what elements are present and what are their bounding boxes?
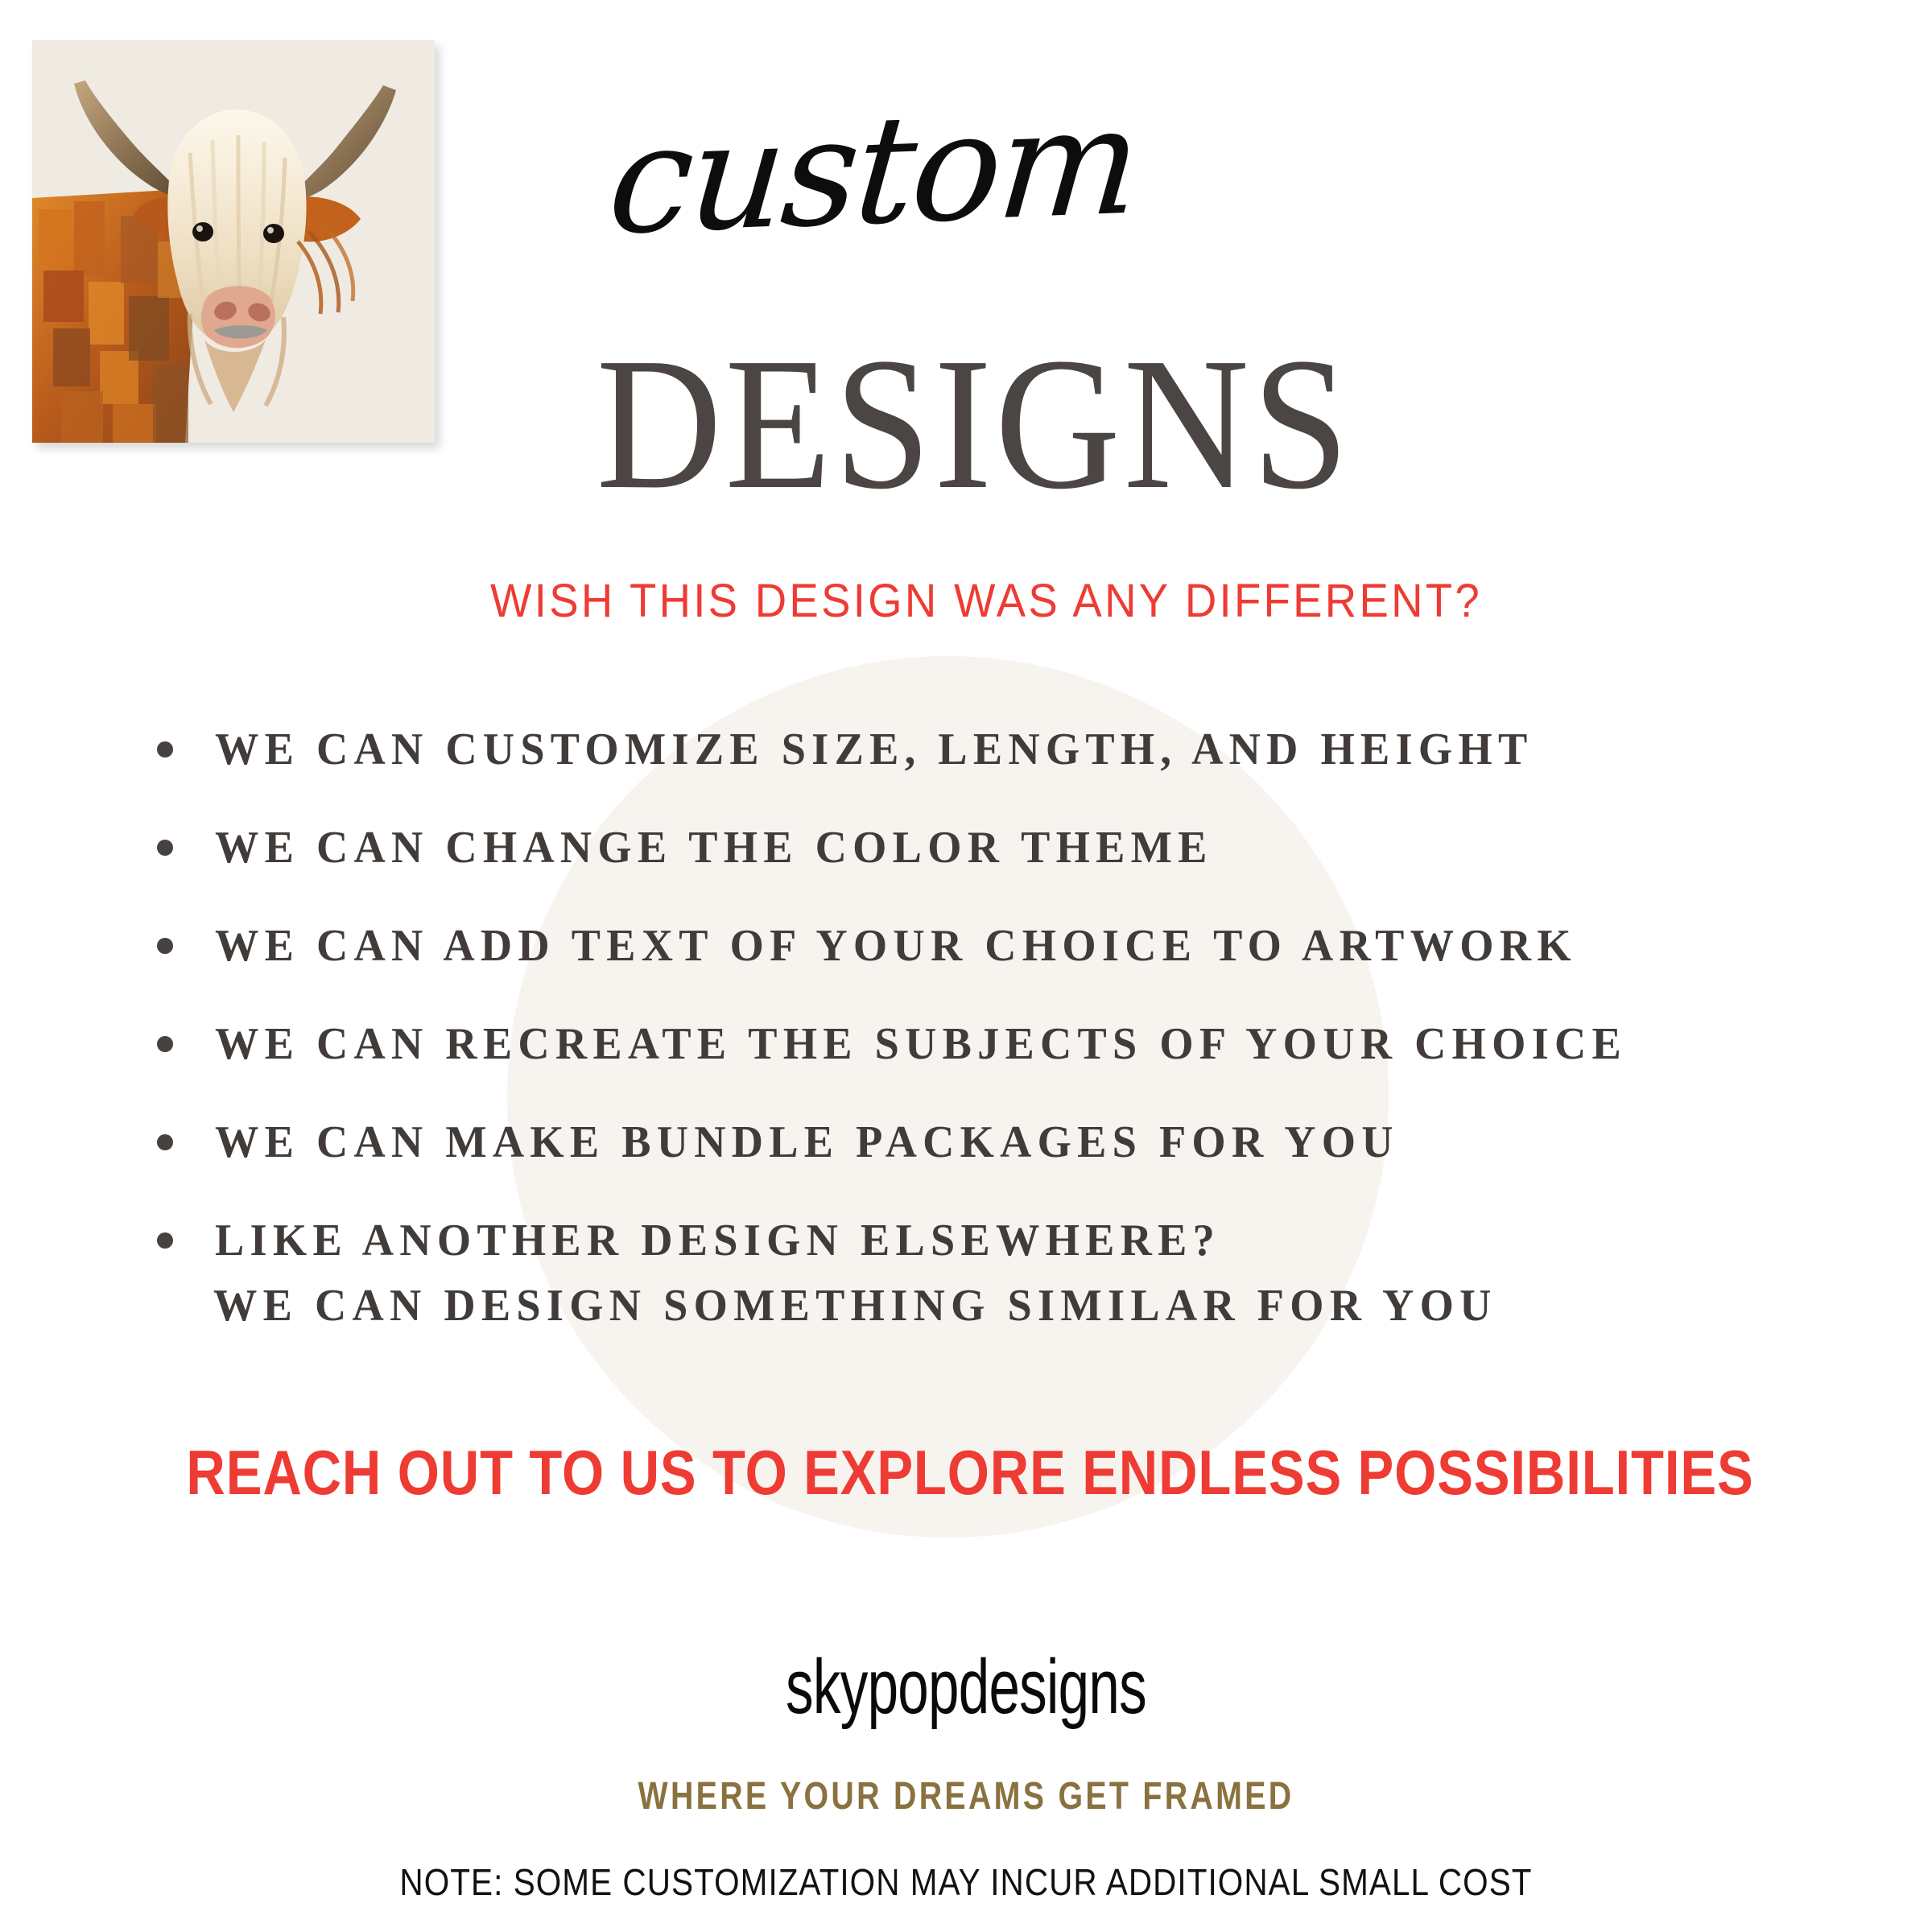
bullet-dot-icon xyxy=(157,1232,173,1249)
list-item-label: LIKE ANOTHER DESIGN ELSEWHERE? xyxy=(215,1218,1220,1263)
bullet-dot-icon xyxy=(157,1134,173,1150)
list-item: WE CAN ADD TEXT OF YOUR CHOICE TO ARTWOR… xyxy=(157,897,1847,995)
page-title-designs: DESIGNS xyxy=(322,322,1625,526)
list-item-label: WE CAN CUSTOMIZE SIZE, LENGTH, AND HEIGH… xyxy=(215,727,1533,772)
subtitle-question: WISH THIS DESIGN WAS ANY DIFFERENT? xyxy=(211,576,1762,627)
list-item: WE CAN CHANGE THE COLOR THEME xyxy=(157,799,1847,897)
artwork-thumbnail[interactable] xyxy=(32,40,435,443)
list-item-label: WE CAN RECREATE THE SUBJECTS OF YOUR CHO… xyxy=(215,1022,1627,1067)
brand-logo-wordmark: skypopdesigns xyxy=(618,1649,1314,1726)
disclaimer-note: NOTE: SOME CUSTOMIZATION MAY INCUR ADDIT… xyxy=(328,1864,1604,1901)
bullet-dot-icon xyxy=(157,938,173,954)
list-item: LIKE ANOTHER DESIGN ELSEWHERE? xyxy=(157,1191,1847,1290)
list-item-label: WE CAN MAKE BUNDLE PACKAGES FOR YOU xyxy=(215,1120,1399,1165)
bullet-dot-icon xyxy=(157,741,173,758)
call-to-action-text: REACH OUT TO US TO EXPLORE ENDLESS POSSI… xyxy=(177,1441,1762,1504)
list-item-label: WE CAN ADD TEXT OF YOUR CHOICE TO ARTWOR… xyxy=(215,923,1577,968)
list-item-label: WE CAN CHANGE THE COLOR THEME xyxy=(215,825,1213,870)
promo-poster: custom DESIGNS WISH THIS DESIGN WAS ANY … xyxy=(0,0,1932,1932)
bullet-dot-icon xyxy=(157,840,173,856)
highland-cow-painting-image xyxy=(32,40,435,443)
brand-tagline: WHERE YOUR DREAMS GET FRAMED xyxy=(570,1777,1362,1816)
list-item: WE CAN RECREATE THE SUBJECTS OF YOUR CHO… xyxy=(157,995,1847,1093)
list-item-continuation-label: WE CAN DESIGN SOMETHING SIMILAR FOR YOU xyxy=(213,1283,1497,1328)
script-heading-custom: custom xyxy=(445,80,1302,262)
list-item: WE CAN CUSTOMIZE SIZE, LENGTH, AND HEIGH… xyxy=(157,700,1847,799)
customization-options-list: WE CAN CUSTOMIZE SIZE, LENGTH, AND HEIGH… xyxy=(157,700,1847,1290)
list-item: WE CAN MAKE BUNDLE PACKAGES FOR YOU xyxy=(157,1093,1847,1191)
bullet-dot-icon xyxy=(157,1036,173,1052)
